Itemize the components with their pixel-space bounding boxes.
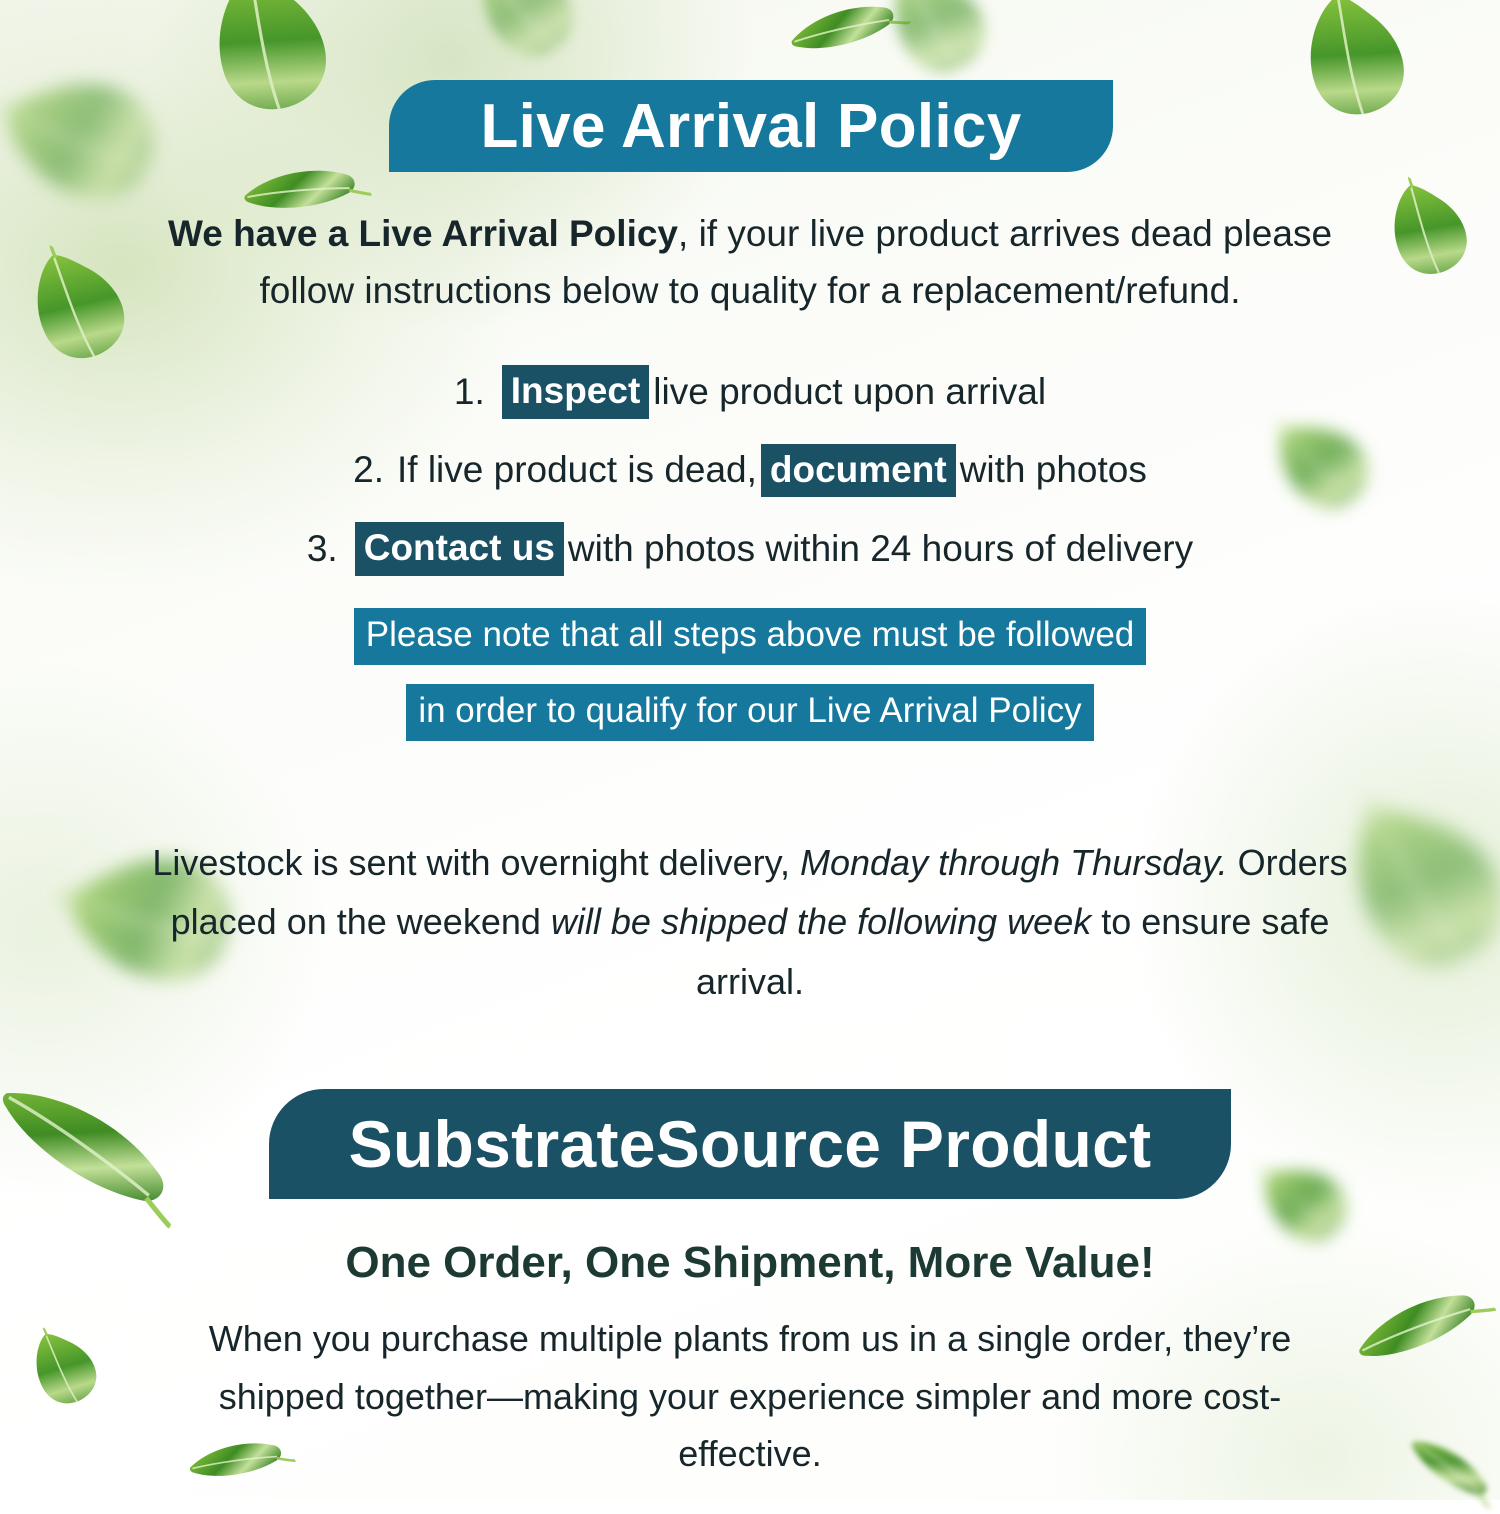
step-item-document: 2. If live product is dead, document wit… — [150, 444, 1350, 498]
intro-paragraph: We have a Live Arrival Policy, if your l… — [150, 205, 1350, 320]
step-item-contact-us: 3. Contact us with photos within 24 hour… — [150, 522, 1350, 576]
step-highlight-inspect: Inspect — [502, 365, 650, 419]
live-arrival-policy-banner: Live Arrival Policy — [389, 80, 1113, 172]
value-proposition-paragraph: When you purchase multiple plants from u… — [170, 1310, 1330, 1483]
policy-note-line-1: Please note that all steps above must be… — [354, 608, 1147, 665]
livestock-emphasis-days: Monday through Thursday. — [800, 842, 1228, 883]
policy-note-line-2-wrap: in order to qualify for our Live Arrival… — [150, 684, 1350, 741]
step-number: 2. — [353, 449, 384, 491]
livestock-shipping-paragraph: Livestock is sent with overnight deliver… — [150, 833, 1350, 1011]
policy-note-line-2: in order to qualify for our Live Arrival… — [406, 684, 1093, 741]
policy-note-block: Please note that all steps above must be… — [150, 608, 1350, 741]
substratesource-product-title: SubstrateSource Product — [349, 1106, 1152, 1182]
live-arrival-policy-title: Live Arrival Policy — [481, 91, 1022, 162]
step-highlight-contact-us: Contact us — [355, 522, 564, 576]
value-proposition-heading: One Order, One Shipment, More Value! — [150, 1238, 1350, 1288]
step-number: 1. — [454, 371, 485, 413]
substratesource-product-banner: SubstrateSource Product — [269, 1089, 1231, 1199]
step-item-inspect: 1. Inspect live product upon arrival — [150, 365, 1350, 419]
steps-list: 1. Inspect live product upon arrival 2. … — [150, 365, 1350, 601]
policy-note-line-1-wrap: Please note that all steps above must be… — [150, 608, 1350, 665]
step-number: 3. — [307, 528, 338, 570]
step-text-after: with photos within 24 hours of delivery — [568, 528, 1193, 570]
intro-strong-text: We have a Live Arrival Policy — [168, 213, 678, 254]
livestock-text-1: Livestock is sent with overnight deliver… — [152, 842, 800, 883]
step-text-before: If live product is dead, — [397, 449, 757, 491]
page-content: Live Arrival Policy We have a Live Arriv… — [0, 0, 1500, 1500]
step-text-after: with photos — [960, 449, 1147, 491]
step-highlight-document: document — [761, 444, 956, 498]
livestock-emphasis-weekend: will be shipped the following week — [551, 901, 1091, 942]
step-text-after: live product upon arrival — [653, 371, 1046, 413]
